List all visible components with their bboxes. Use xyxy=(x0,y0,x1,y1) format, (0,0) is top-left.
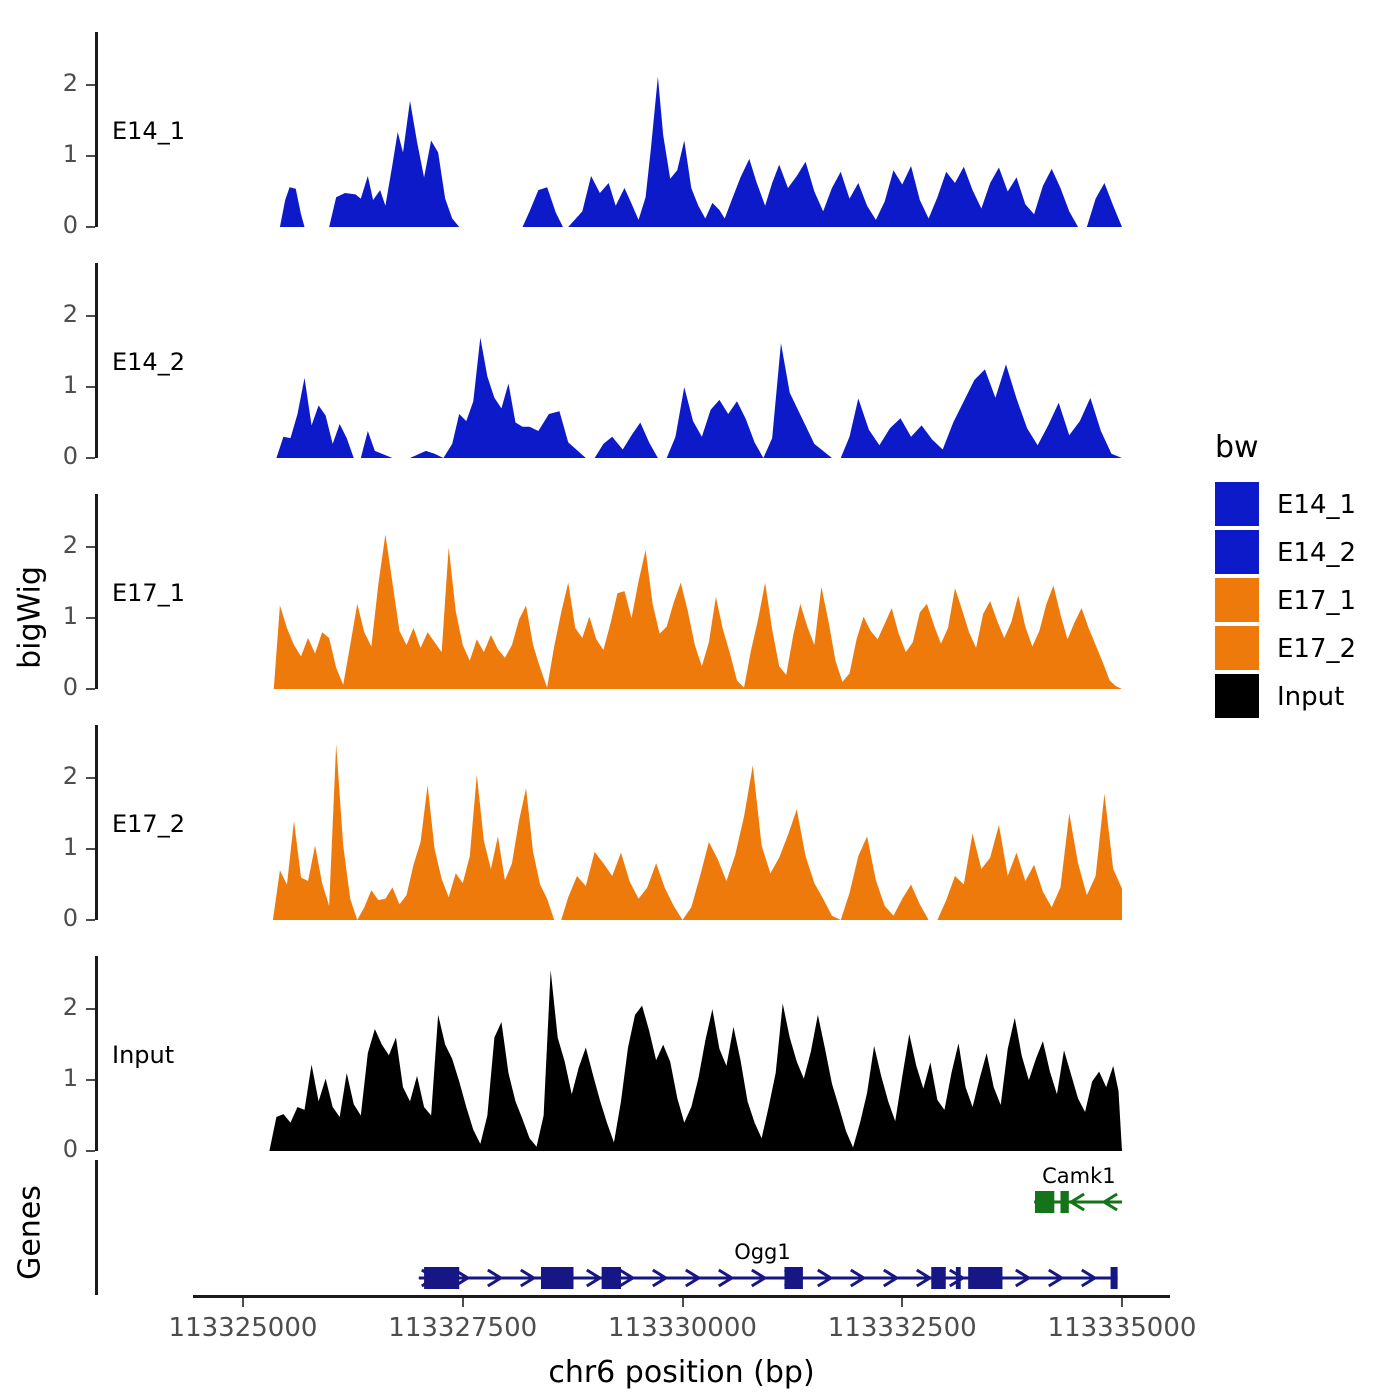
legend-key-e14_2[interactable] xyxy=(1215,530,1259,574)
legend: bw E14_1E14_2E17_1E17_2Input xyxy=(1215,430,1395,730)
legend-key-e17_2[interactable] xyxy=(1215,626,1259,670)
genome-browser-figure: bigWig Genes 012E14_1012E14_2012E17_1012… xyxy=(0,0,1400,1400)
x-tick xyxy=(682,1298,684,1307)
legend-key-e17_1[interactable] xyxy=(1215,578,1259,622)
legend-title: bw xyxy=(1215,430,1259,465)
legend-label-e17_1: E17_1 xyxy=(1277,586,1356,616)
x-axis-title: chr6 position (bp) xyxy=(0,1355,1363,1390)
legend-key-input[interactable] xyxy=(1215,674,1259,718)
legend-label-e17_2: E17_2 xyxy=(1277,634,1356,664)
x-axis: 1133250001133275001133300001133325001133… xyxy=(0,0,1400,1400)
x-tick xyxy=(462,1298,464,1307)
x-tick-label: 113330000 xyxy=(573,1313,793,1343)
legend-label-e14_1: E14_1 xyxy=(1277,490,1356,520)
x-tick-label: 113325000 xyxy=(133,1313,353,1343)
x-tick xyxy=(1121,1298,1123,1307)
x-tick xyxy=(901,1298,903,1307)
x-tick-label: 113327500 xyxy=(353,1313,573,1343)
legend-label-input: Input xyxy=(1277,682,1344,712)
x-tick-label: 113332500 xyxy=(792,1313,1012,1343)
legend-key-e14_1[interactable] xyxy=(1215,482,1259,526)
x-tick-label: 113335000 xyxy=(1012,1313,1232,1343)
legend-label-e14_2: E14_2 xyxy=(1277,538,1356,568)
x-tick xyxy=(242,1298,244,1307)
